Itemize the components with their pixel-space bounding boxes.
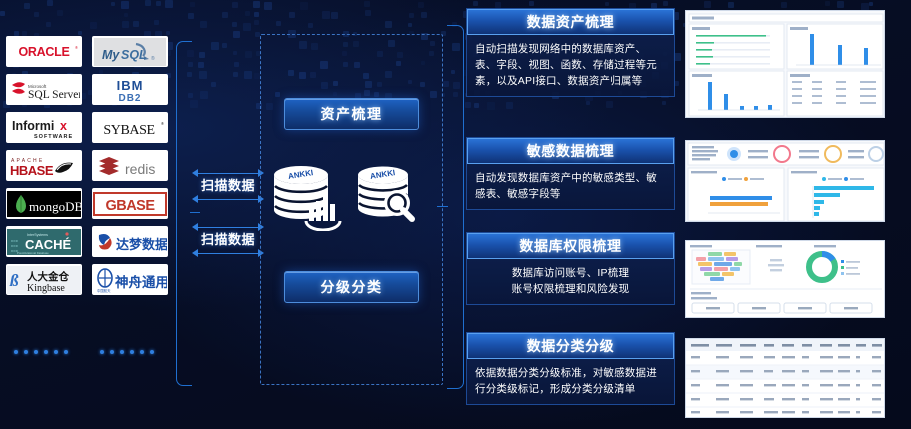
feature-title: 数据分类分级 — [467, 333, 674, 359]
svg-text:Informi: Informi — [12, 119, 54, 133]
data-source-logo: redis — [92, 150, 168, 181]
svg-text:ß: ß — [9, 271, 19, 290]
right-bracket — [447, 25, 464, 389]
feature-description: 依据数据分类分级标准，对敏感数据进行分类级标记，形成分类分级清单 — [467, 359, 674, 404]
svg-text:My: My — [102, 48, 120, 62]
svg-text:IBM: IBM — [117, 78, 144, 93]
svg-text:GBASE: GBASE — [105, 198, 155, 214]
data-source-logo-grid: ORACLE ® My SQL ® Microsoft SQL Server I… — [6, 36, 170, 295]
scan-arrow-bottom-upper — [192, 222, 264, 232]
svg-text:Kingbase: Kingbase — [27, 283, 65, 294]
svg-text:DB2: DB2 — [118, 93, 141, 104]
svg-text:®: ® — [151, 55, 155, 62]
more-sources-indicator-left — [14, 350, 68, 354]
svg-text:mongoDB: mongoDB — [29, 199, 81, 214]
data-source-logo: My SQL ® — [92, 36, 168, 67]
svg-text:中国航天: 中国航天 — [97, 288, 111, 293]
svg-text:人大金仓: 人大金仓 — [27, 270, 69, 283]
more-sources-indicator-right — [100, 350, 154, 354]
feature-panel-data-classification: 数据分类分级 依据数据分类分级标准，对敏感数据进行分类级标记，形成分类分级清单 — [466, 332, 675, 405]
data-source-logo: ß 人大金仓 Kingbase — [6, 264, 82, 295]
scan-arrow-top-upper — [192, 168, 264, 178]
svg-text:SYBASE: SYBASE — [103, 123, 154, 138]
data-source-logo: 中国航天 神舟通用 — [92, 264, 168, 295]
svg-text:®: ® — [161, 121, 164, 126]
feature-description: 数据库访问账号、IP梳理 账号权限梳理和风险发现 — [467, 259, 674, 304]
data-source-logo: InterSystems ᴄᴄᴄᴄᴄᴄᴄᴄᴄ CACHÉ Post-Relati… — [6, 226, 82, 257]
feature-panel-db-permission: 数据库权限梳理 数据库访问账号、IP梳理 账号权限梳理和风险发现 — [466, 232, 675, 305]
svg-text:ᴄᴄᴄ: ᴄᴄᴄ — [11, 245, 19, 249]
feature-panel-asset-inventory: 数据资产梳理 自动扫描发现网络中的数据库资产、表、字段、视图、函数、存储过程等元… — [466, 8, 675, 97]
database-engine-icons: ANKKI ANKKI — [268, 163, 438, 231]
data-source-logo: Microsoft SQL Server — [6, 74, 82, 105]
data-source-logo: GBASE — [92, 188, 168, 219]
svg-text:ᴄᴄᴄ: ᴄᴄᴄ — [11, 240, 19, 244]
svg-text:SQL Server: SQL Server — [28, 89, 80, 101]
screenshot-classification-table-dashboard[interactable] — [685, 338, 885, 418]
svg-text:HBASE: HBASE — [10, 163, 54, 178]
right-bracket-stem — [437, 206, 448, 207]
svg-text:SOFTWARE: SOFTWARE — [34, 134, 73, 140]
feature-title: 敏感数据梳理 — [467, 138, 674, 164]
data-source-logo: IBM DB2 — [92, 74, 168, 105]
feature-description: 自动扫描发现网络中的数据库资产、表、字段、视图、函数、存储过程等元素，以及API… — [467, 35, 674, 96]
svg-text:CACHÉ: CACHÉ — [25, 237, 72, 252]
svg-text:ORACLE: ORACLE — [19, 45, 70, 59]
screenshot-asset-overview-dashboard[interactable] — [685, 10, 885, 118]
data-source-logo: ORACLE ® — [6, 36, 82, 67]
svg-text:达梦数据库: 达梦数据库 — [116, 237, 167, 252]
asset-inventory-button[interactable]: 资产梳理 — [284, 98, 419, 130]
scan-arrow-bottom-lower — [192, 248, 264, 258]
svg-text:redis: redis — [125, 161, 155, 177]
left-bracket — [176, 41, 192, 386]
screenshot-permission-dashboard[interactable] — [685, 240, 885, 318]
svg-text:SQL: SQL — [121, 48, 147, 62]
feature-title: 数据资产梳理 — [467, 9, 674, 35]
scan-label-top: 扫描数据 — [192, 178, 264, 194]
scan-arrow-top-lower — [192, 194, 264, 204]
infographic-canvas: ORACLE ® My SQL ® Microsoft SQL Server I… — [0, 0, 911, 429]
svg-text:Post-Relational Database: Post-Relational Database — [17, 251, 49, 255]
classification-button[interactable]: 分级分类 — [284, 271, 419, 303]
feature-panel-sensitive-data: 敏感数据梳理 自动发现数据库资产中的敏感类型、敏感表、敏感字段等 — [466, 137, 675, 210]
data-source-logo: mongoDB — [6, 188, 82, 219]
svg-text:®: ® — [75, 45, 78, 50]
feature-title: 数据库权限梳理 — [467, 233, 674, 259]
svg-text:神舟通用: 神舟通用 — [115, 274, 167, 290]
feature-description: 自动发现数据库资产中的敏感类型、敏感表、敏感字段等 — [467, 164, 674, 209]
data-source-logo: SYBASE ® — [92, 112, 168, 143]
scan-label-bottom: 扫描数据 — [192, 232, 264, 248]
data-source-logo: 达梦数据库 — [92, 226, 168, 257]
data-source-logo: APACHE HBASE — [6, 150, 82, 181]
data-source-logo: Informi x SOFTWARE — [6, 112, 82, 143]
left-bracket-stem — [190, 212, 200, 213]
svg-text:x: x — [60, 119, 67, 133]
scan-flow-top: 扫描数据 — [192, 168, 264, 204]
screenshot-sensitive-data-dashboard[interactable] — [685, 140, 885, 222]
scan-flow-bottom: 扫描数据 — [192, 222, 264, 258]
